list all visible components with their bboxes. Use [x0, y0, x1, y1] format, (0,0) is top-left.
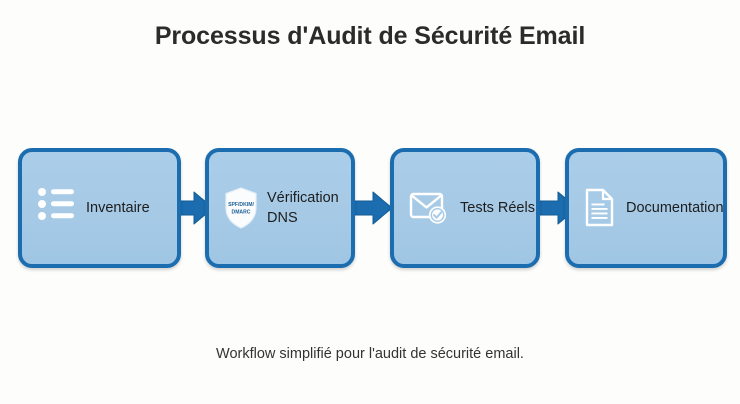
shield-text-line1: SPF/DKIM/	[228, 202, 254, 208]
flow-step-label-tests-reels: Tests Réels	[460, 198, 535, 218]
envelope-check-icon	[409, 190, 449, 226]
list-icon	[37, 187, 75, 229]
flow-step-label-verification-dns: Vérification DNS	[267, 188, 339, 228]
caption: Workflow simplifié pour l'audit de sécur…	[0, 346, 740, 362]
process-flow: Inventaire SPF/DKIM/ DMARC Vérification …	[0, 148, 740, 272]
diagram-canvas: Processus d'Audit de Sécurité Email	[0, 0, 740, 404]
flow-step-tests-reels[interactable]: Tests Réels	[390, 148, 540, 268]
flow-step-label-documentation: Documentation	[626, 198, 724, 218]
document-icon	[584, 188, 616, 228]
flow-step-inventaire[interactable]: Inventaire	[18, 148, 181, 268]
flow-step-label-inventaire: Inventaire	[86, 198, 150, 218]
flow-step-verification-dns[interactable]: SPF/DKIM/ DMARC Vérification DNS	[205, 148, 355, 268]
page-title: Processus d'Audit de Sécurité Email	[0, 22, 740, 51]
shield-icon: SPF/DKIM/ DMARC	[224, 187, 258, 229]
shield-text-line2: DMARC	[232, 209, 251, 215]
flow-step-documentation[interactable]: Documentation	[565, 148, 727, 268]
